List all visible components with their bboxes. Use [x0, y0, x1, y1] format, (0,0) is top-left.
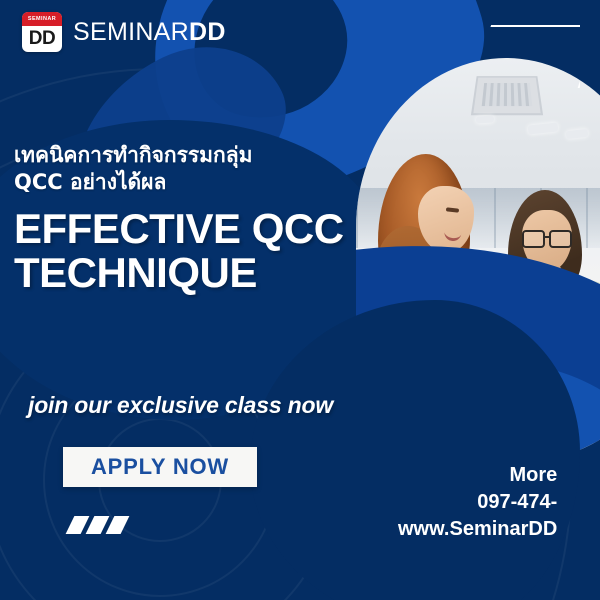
- person-b-glasses: [522, 230, 572, 245]
- slash-decoration: [70, 516, 125, 534]
- logo-badge-top-text: SEMINAR: [28, 16, 56, 22]
- contact-website[interactable]: www.SeminarDD: [398, 516, 557, 543]
- wordmark-light-part: SEMINAR: [73, 18, 189, 46]
- brand-wordmark[interactable]: SEMINARDD: [73, 20, 226, 45]
- ceiling-light: [566, 129, 589, 139]
- thai-headline-line-2: QCC อย่างได้ผล: [14, 169, 394, 196]
- promo-banner: SEMINAR DD SEMINARDD เทคนิคการทำกิจกรรมก…: [0, 0, 600, 600]
- apply-now-button[interactable]: APPLY NOW: [63, 447, 257, 487]
- glasses-lens-left: [522, 230, 545, 248]
- headline-block: เทคนิคการทำกิจกรรมกลุ่ม QCC อย่างได้ผล E…: [14, 142, 394, 296]
- brand-header: SEMINAR DD SEMINARDD: [22, 12, 226, 52]
- contact-phone[interactable]: 097-474-: [428, 489, 557, 516]
- tagline-text: join our exclusive class now: [28, 392, 333, 419]
- seminardd-logo-icon[interactable]: SEMINAR DD: [22, 12, 62, 52]
- thai-headline-line-1: เทคนิคการทำกิจกรรมกลุ่ม: [14, 142, 394, 169]
- ceiling-vent: [471, 76, 543, 115]
- wordmark-bold-part: DD: [189, 18, 226, 46]
- contact-more-label: More: [498, 462, 557, 489]
- glasses-lens-right: [549, 230, 572, 248]
- ceiling-light: [476, 115, 494, 123]
- logo-badge-main-text: DD: [22, 25, 62, 52]
- ceiling-light: [528, 122, 559, 134]
- english-title-line-1: EFFECTIVE QCC: [14, 207, 394, 252]
- contact-block: More 097-474- www.SeminarDD: [498, 462, 557, 543]
- person-a-face: [418, 186, 474, 252]
- apply-now-label: APPLY NOW: [91, 454, 229, 480]
- english-title-line-2: TECHNIQUE: [14, 251, 394, 296]
- logo-red-band: SEMINAR: [22, 12, 62, 26]
